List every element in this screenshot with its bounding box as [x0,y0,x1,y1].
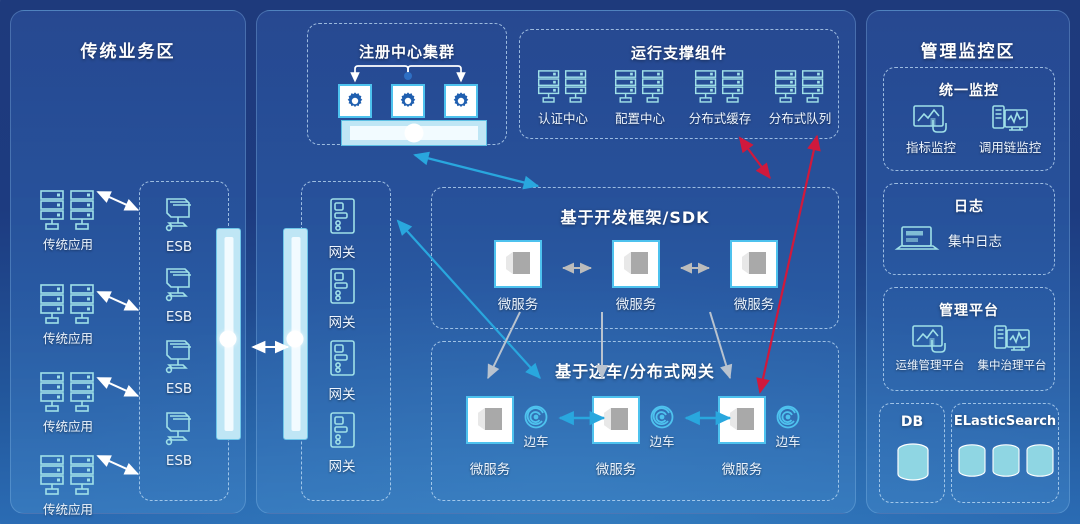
cube-icon [600,404,632,436]
registry-node-3[interactable] [444,84,478,118]
server-stack-icon [38,371,98,413]
platform-item-governance[interactable]: 集中治理平台 [970,324,1054,373]
right-panel-title: 管理监控区 [867,37,1069,62]
gateway-icon [325,411,359,453]
legacy-app-4[interactable]: 传统应用 [23,454,113,518]
gateway-item-1[interactable]: 网关 [305,197,379,261]
runtime-item-label: 分布式缓存 [680,108,760,127]
legacy-app-label: 传统应用 [23,499,113,518]
storage-db-title: DB [880,414,944,430]
storage-es-title: ELasticSearch [952,414,1058,429]
esb-icon [157,337,201,379]
sidecar-swirl-icon [649,404,675,430]
runtime-item-label: 配置中心 [603,108,677,127]
cube-icon [620,248,652,280]
sdk-service-label: 微服务 [480,293,556,313]
sidecar-section: 基于边车/分布式网关 微服务 [431,341,839,501]
gateway-label: 网关 [305,383,379,403]
esb-bus-node-dot [220,331,237,348]
unified-monitoring-group: 统一监控 指标监控 [883,67,1055,171]
server-stack-icon [692,70,748,106]
management-platform-group: 管理平台 运维管理平台 [883,287,1055,391]
sidecar-badge-3[interactable]: 边车 [766,404,810,450]
registry-title: 注册中心集群 [308,41,506,62]
gear-icon [345,91,365,111]
unified-monitoring-title: 统一监控 [884,80,1054,100]
esb-item-3[interactable]: ESB [143,337,215,397]
monitor-chart-icon [993,324,1031,354]
microservice-box [494,240,542,288]
management-platform-title: 管理平台 [884,300,1054,320]
monitoring-item-label: 指标监控 [894,137,968,156]
gear-icon [451,91,471,111]
logging-item-central[interactable]: 集中日志 [896,224,1046,256]
esb-item-4[interactable]: ESB [143,409,215,469]
monitoring-item-metrics[interactable]: 指标监控 [894,104,968,156]
architecture-diagram: 传统业务区 传统应用 [0,0,1080,524]
sidecar-service-label: 微服务 [706,458,778,478]
gateway-label: 网关 [305,455,379,475]
server-stack-icon [38,283,98,325]
logging-group: 日志 集中日志 [883,183,1055,275]
sidecar-swirl-icon [775,404,801,430]
legacy-app-2[interactable]: 传统应用 [23,283,113,347]
platform-item-label: 运维管理平台 [888,357,972,373]
runtime-support-components: 运行支撑组件 认证中心 [519,29,839,139]
database-icon [895,442,931,486]
sidecar-service-label: 微服务 [454,458,526,478]
esb-item-2[interactable]: ESB [143,265,215,325]
left-panel-title: 传统业务区 [11,37,245,62]
sdk-service-label: 微服务 [716,293,792,313]
cube-icon [738,248,770,280]
runtime-item-queue[interactable]: 分布式队列 [760,70,840,127]
gateway-icon [325,267,359,309]
sdk-service-label: 微服务 [598,293,674,313]
sdk-section-title: 基于开发框架/SDK [432,204,838,228]
esb-label: ESB [143,239,215,255]
runtime-item-auth[interactable]: 认证中心 [526,70,600,127]
sdk-section: 基于开发框架/SDK 微服务 [431,187,839,329]
microservice-box [466,396,514,444]
sidecar-badge-1[interactable]: 边车 [514,404,558,450]
logging-item-label: 集中日志 [948,230,1002,250]
esb-item-1[interactable]: ESB [143,195,215,255]
registry-node-1[interactable] [338,84,372,118]
center-panel-microservice-zone: 网关 网关 网关 [256,10,856,514]
runtime-item-label: 认证中心 [526,108,600,127]
legacy-app-label: 传统应用 [23,328,113,347]
server-stack-icon [535,70,591,106]
sidecar-section-title: 基于边车/分布式网关 [432,358,838,382]
esb-label: ESB [143,453,215,469]
legacy-app-3[interactable]: 传统应用 [23,371,113,435]
runtime-item-label: 分布式队列 [760,108,840,127]
sidecar-swirl-icon [523,404,549,430]
sidecar-badge-label: 边车 [766,431,810,450]
sidecar-badge-2[interactable]: 边车 [640,404,684,450]
sidecar-badge-label: 边车 [514,431,558,450]
storage-es-group[interactable]: ELasticSearch [951,403,1059,503]
microservice-box [718,396,766,444]
logging-title: 日志 [884,196,1054,216]
runtime-support-title: 运行支撑组件 [520,42,838,63]
monitor-chart-icon [991,104,1029,134]
platform-item-ops[interactable]: 运维管理平台 [888,324,972,373]
cube-icon [474,404,506,436]
cube-icon [726,404,758,436]
legacy-app-1[interactable]: 传统应用 [23,189,113,253]
registry-node-2[interactable] [391,84,425,118]
gateway-label: 网关 [305,311,379,331]
legacy-app-label: 传统应用 [23,416,113,435]
gateway-item-2[interactable]: 网关 [305,267,379,331]
sdk-service-1[interactable]: 微服务 [480,240,556,313]
runtime-item-config[interactable]: 配置中心 [603,70,677,127]
esb-icon [157,195,201,237]
storage-db-group[interactable]: DB [879,403,945,503]
esb-label: ESB [143,381,215,397]
left-panel-traditional-zone: 传统业务区 传统应用 [10,10,246,514]
gateway-item-4[interactable]: 网关 [305,411,379,475]
gateway-label: 网关 [305,241,379,261]
esb-icon [157,409,201,451]
sdk-service-2[interactable]: 微服务 [598,240,674,313]
dashboard-touch-icon [912,104,950,134]
database-icon [956,442,1056,486]
sdk-service-3[interactable]: 微服务 [716,240,792,313]
server-stack-icon [772,70,828,106]
server-stack-icon [38,189,98,231]
cube-icon [502,248,534,280]
gateway-item-3[interactable]: 网关 [305,339,379,403]
dashboard-touch-icon [911,324,949,354]
right-panel-management-zone: 管理监控区 统一监控 指标监控 [866,10,1070,514]
microservice-box [730,240,778,288]
monitoring-item-label: 调用链监控 [968,137,1052,156]
runtime-item-cache[interactable]: 分布式缓存 [680,70,760,127]
gear-icon [398,91,418,111]
esb-label: ESB [143,309,215,325]
legacy-app-label: 传统应用 [23,234,113,253]
gateway-icon [325,339,359,381]
esb-icon [157,265,201,307]
microservice-box [612,240,660,288]
platform-item-label: 集中治理平台 [970,357,1054,373]
sidecar-badge-label: 边车 [640,431,684,450]
registry-bus-bar[interactable] [341,120,487,146]
laptop-icon [896,224,938,256]
gateway-icon [325,197,359,239]
sidecar-service-label: 微服务 [580,458,652,478]
server-stack-icon [38,454,98,496]
registry-bus-node-dot [405,124,424,143]
microservice-box [592,396,640,444]
monitoring-item-trace[interactable]: 调用链监控 [968,104,1052,156]
gateway-bus-node-dot [287,331,304,348]
server-stack-icon [612,70,668,106]
